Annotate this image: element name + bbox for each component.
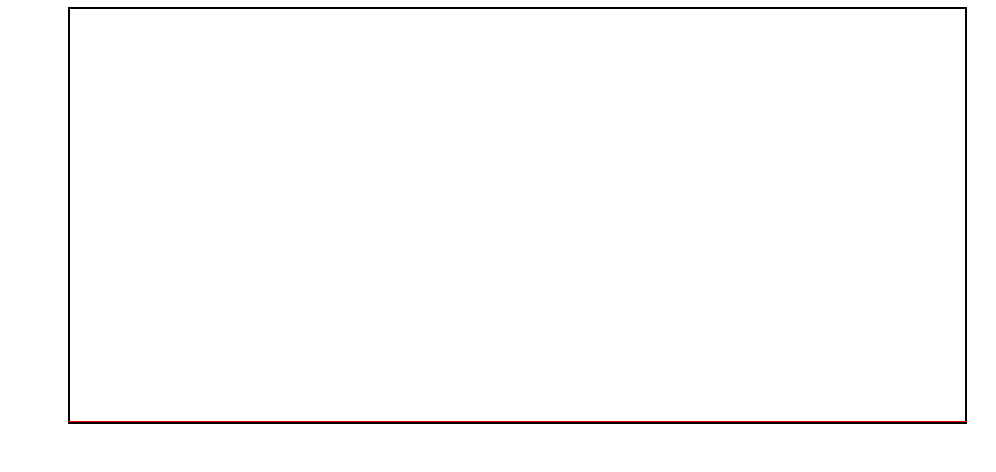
histogram-series bbox=[68, 7, 967, 423]
trigger-rate-histogram-panel bbox=[0, 0, 996, 472]
